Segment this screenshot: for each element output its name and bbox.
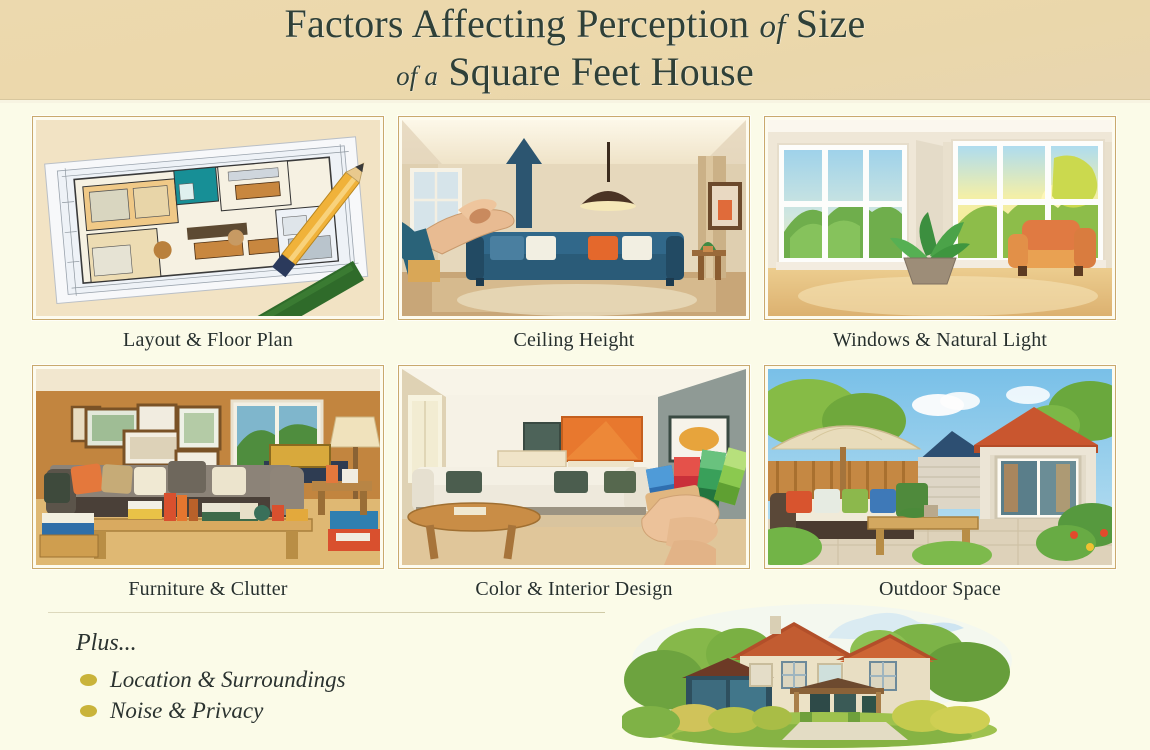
factor-card-outdoor-space[interactable]: Outdoor Space <box>764 365 1116 610</box>
section-divider <box>48 612 605 613</box>
factor-image-frame <box>32 365 384 569</box>
factor-image-frame <box>398 365 750 569</box>
suburban-house-illustration <box>622 600 1022 750</box>
title-text-of: of <box>760 9 786 45</box>
outdoor-space-illustration <box>768 369 1112 565</box>
ceiling-height-illustration <box>402 120 746 316</box>
title-text-of-a: of a <box>396 61 438 91</box>
factor-image-frame <box>764 365 1116 569</box>
color-design-illustration <box>402 369 746 565</box>
factors-grid: Layout & Floor Plan <box>32 116 1118 614</box>
plus-item-label: Location & Surroundings <box>110 665 346 694</box>
plus-heading: Plus... <box>76 630 608 657</box>
factor-caption: Furniture & Clutter <box>32 569 384 610</box>
page-title-line-2: of a Square Feet House <box>396 50 754 98</box>
factor-image-frame <box>398 116 750 320</box>
windows-light-illustration <box>768 120 1112 316</box>
bullet-icon <box>80 705 97 717</box>
title-text-b: Size <box>786 1 866 46</box>
factor-card-color-interior-design[interactable]: Color & Interior Design <box>398 365 750 610</box>
factors-row-2: Furniture & Clutter <box>32 365 1118 610</box>
furniture-clutter-illustration <box>36 369 380 565</box>
factor-card-furniture-clutter[interactable]: Furniture & Clutter <box>32 365 384 610</box>
title-text-c: Square Feet House <box>448 49 754 94</box>
factors-row-1: Layout & Floor Plan <box>32 116 1118 361</box>
factor-image-frame <box>32 116 384 320</box>
factor-card-windows-natural-light[interactable]: Windows & Natural Light <box>764 116 1116 361</box>
floor-plan-illustration <box>36 120 380 316</box>
factor-image-frame <box>764 116 1116 320</box>
factor-caption: Ceiling Height <box>398 320 750 361</box>
list-item[interactable]: Noise & Privacy <box>80 696 608 725</box>
title-text-a: Factors Affecting Perception <box>285 1 760 46</box>
plus-item-label: Noise & Privacy <box>110 696 263 725</box>
factor-caption: Layout & Floor Plan <box>32 320 384 361</box>
plus-section: Plus... Location & Surroundings Noise & … <box>48 612 608 727</box>
factor-card-ceiling-height[interactable]: Ceiling Height <box>398 116 750 361</box>
page-title-line-1: Factors Affecting Perception of Size <box>285 1 866 50</box>
list-item[interactable]: Location & Surroundings <box>80 665 608 694</box>
bullet-icon <box>80 674 97 686</box>
factor-card-layout-floor-plan[interactable]: Layout & Floor Plan <box>32 116 384 361</box>
page-header: Factors Affecting Perception of Size of … <box>0 0 1150 101</box>
factor-caption: Windows & Natural Light <box>764 320 1116 361</box>
plus-list: Location & Surroundings Noise & Privacy <box>80 665 608 725</box>
